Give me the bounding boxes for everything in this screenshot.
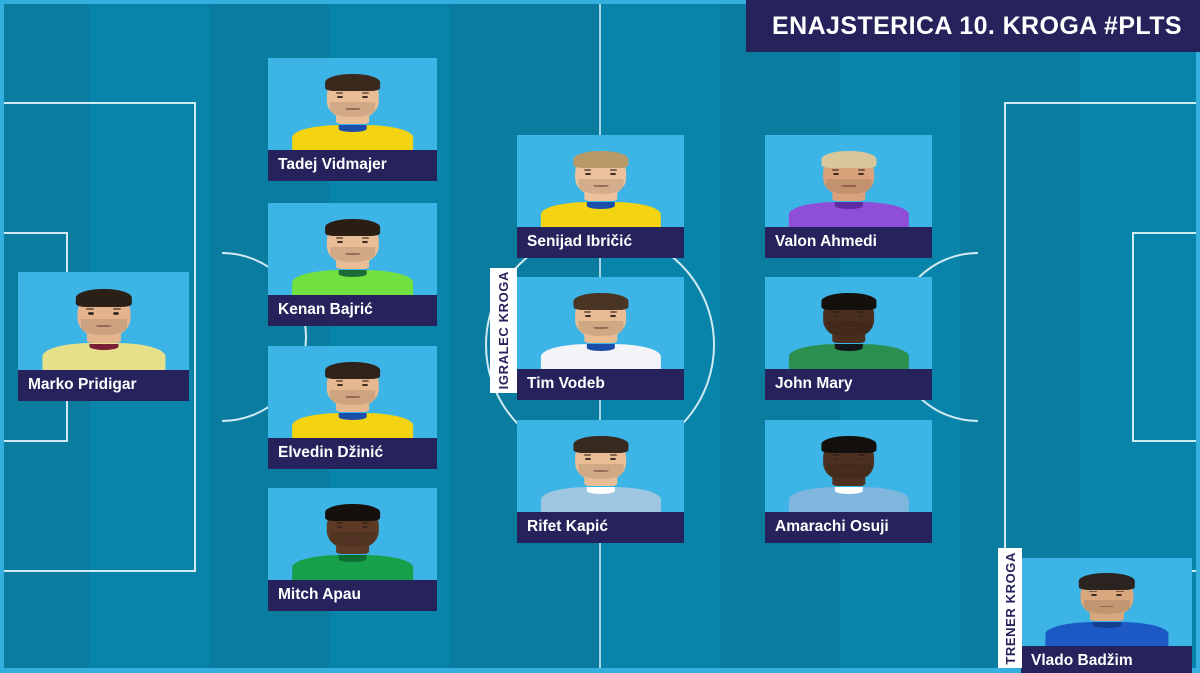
player-portrait [18, 272, 189, 370]
portrait-brow-r-shape [858, 311, 866, 313]
portrait-eye-l-shape [337, 526, 342, 528]
portrait-hair-shape [821, 436, 876, 453]
goal-box-right [1132, 232, 1200, 442]
player-photo [517, 420, 684, 512]
player-card-defender-3[interactable]: Elvedin Džinić [268, 346, 437, 469]
portrait-brow-l-shape [336, 92, 344, 94]
coach-portrait [1021, 558, 1192, 646]
player-photo [18, 272, 189, 370]
portrait-brow-r-shape [610, 454, 618, 456]
portrait-brow-r-shape [858, 454, 866, 456]
player-card-forward-2[interactable]: John Mary [765, 277, 932, 400]
portrait-beard-shape [1083, 600, 1129, 614]
player-name-label: John Mary [765, 369, 932, 400]
player-name-label: Marko Pridigar [18, 370, 189, 401]
portrait-brow-l-shape [832, 454, 840, 456]
portrait-brow-l-shape [336, 522, 344, 524]
portrait-mouth-shape [593, 470, 608, 472]
portrait-hair-shape [325, 504, 381, 521]
portrait-brow-r-shape [362, 92, 370, 94]
portrait-hair-shape [325, 74, 381, 91]
portrait-brow-l-shape [86, 308, 94, 310]
player-photo [517, 277, 684, 369]
portrait-brow-l-shape [832, 169, 840, 171]
player-portrait [268, 488, 437, 580]
portrait-eye-r-shape [858, 315, 863, 317]
coach-photo [1021, 558, 1192, 646]
portrait-mouth-shape [841, 327, 856, 329]
player-portrait [517, 420, 684, 512]
player-name-label: Tim Vodeb [517, 369, 684, 400]
portrait-eye-r-shape [362, 96, 367, 98]
portrait-eye-r-shape [610, 173, 615, 175]
player-portrait [268, 203, 437, 295]
portrait-eye-r-shape [610, 458, 615, 460]
player-portrait [268, 346, 437, 438]
portrait-brow-r-shape [362, 380, 370, 382]
portrait-mouth-shape [345, 108, 360, 110]
portrait-eye-l-shape [337, 241, 342, 243]
portrait-brow-r-shape [858, 169, 866, 171]
portrait-brow-r-shape [362, 237, 370, 239]
player-card-defender-2[interactable]: Kenan Bajrić [268, 203, 437, 326]
frame-bottom-edge [0, 668, 1200, 673]
portrait-brow-r-shape [113, 308, 121, 310]
player-card-midfielder-3[interactable]: Rifet Kapić [517, 420, 684, 543]
portrait-mouth-shape [345, 538, 360, 540]
player-photo [268, 203, 437, 295]
portrait-hair-shape [821, 293, 876, 310]
portrait-eye-l-shape [585, 173, 590, 175]
page-title: ENAJSTERICA 10. KROGA #PLTS [772, 12, 1182, 41]
portrait-mouth-shape [593, 327, 608, 329]
coach-name-label: Vlado Badžim [1021, 646, 1192, 673]
portrait-eye-l-shape [337, 384, 342, 386]
portrait-eye-r-shape [858, 458, 863, 460]
portrait-beard-shape [578, 179, 623, 194]
player-portrait [765, 420, 932, 512]
portrait-hair-shape [325, 219, 381, 236]
portrait-brow-r-shape [610, 169, 618, 171]
portrait-eye-l-shape [833, 458, 838, 460]
portrait-collar-shape [89, 344, 118, 351]
header-banner: ENAJSTERICA 10. KROGA #PLTS [746, 0, 1200, 52]
player-name-label: Elvedin Džinić [268, 438, 437, 469]
player-name-label: Amarachi Osuji [765, 512, 932, 543]
portrait-beard-shape [330, 247, 376, 262]
portrait-brow-r-shape [362, 522, 370, 524]
player-portrait [517, 277, 684, 369]
portrait-brow-l-shape [584, 169, 592, 171]
portrait-beard-shape [826, 179, 871, 194]
portrait-eye-l-shape [585, 315, 590, 317]
player-portrait [765, 277, 932, 369]
portrait-hair-shape [573, 293, 628, 310]
player-name-label: Tadej Vidmajer [268, 150, 437, 181]
portrait-mouth-shape [841, 185, 856, 187]
portrait-brow-l-shape [336, 237, 344, 239]
portrait-eye-l-shape [88, 312, 93, 315]
player-photo [268, 488, 437, 580]
portrait-eye-r-shape [362, 241, 367, 243]
portrait-beard-shape [578, 321, 623, 336]
portrait-beard-shape [330, 102, 376, 117]
portrait-beard-shape [80, 319, 126, 335]
portrait-mouth-shape [841, 470, 856, 472]
frame-left-edge [0, 0, 4, 673]
player-name-label: Rifet Kapić [517, 512, 684, 543]
coach-of-round-badge: TRENER KROGA [998, 548, 1022, 668]
player-card-forward-3[interactable]: Amarachi Osuji [765, 420, 932, 543]
coach-card[interactable]: Vlado Badžim [1021, 558, 1192, 673]
portrait-beard-shape [578, 464, 623, 479]
portrait-eye-r-shape [362, 384, 367, 386]
portrait-hair-shape [821, 151, 876, 168]
portrait-eye-r-shape [610, 315, 615, 317]
player-photo [765, 420, 932, 512]
player-of-round-badge: IGRALEC KROGA [490, 268, 517, 393]
player-name-label: Senijad Ibričić [517, 227, 684, 258]
coach-of-round-label: TRENER KROGA [1003, 552, 1018, 665]
player-photo [765, 277, 932, 369]
portrait-eye-l-shape [833, 315, 838, 317]
player-of-round-label: IGRALEC KROGA [496, 271, 511, 389]
portrait-beard-shape [826, 464, 871, 479]
player-name-label: Valon Ahmedi [765, 227, 932, 258]
portrait-brow-l-shape [336, 380, 344, 382]
player-portrait [268, 58, 437, 150]
player-portrait [517, 135, 684, 227]
portrait-hair-shape [573, 436, 628, 453]
portrait-mouth-shape [96, 325, 111, 327]
player-card-goalkeeper[interactable]: Marko Pridigar [18, 272, 189, 401]
portrait-eye-r-shape [113, 312, 118, 315]
portrait-eye-r-shape [858, 173, 863, 175]
portrait-beard-shape [330, 390, 376, 405]
portrait-mouth-shape [593, 185, 608, 187]
portrait-mouth-shape [1099, 606, 1114, 608]
portrait-mouth-shape [345, 396, 360, 398]
portrait-hair-shape [1078, 573, 1134, 590]
portrait-beard-shape [826, 321, 871, 336]
portrait-eye-l-shape [833, 173, 838, 175]
player-card-forward-1[interactable]: Valon Ahmedi [765, 135, 932, 258]
portrait-beard-shape [330, 532, 376, 547]
player-card-midfielder-1[interactable]: Senijad Ibričić [517, 135, 684, 258]
portrait-eye-l-shape [585, 458, 590, 460]
portrait-hair-shape [325, 362, 381, 379]
player-photo [268, 346, 437, 438]
player-name-label: Kenan Bajrić [268, 295, 437, 326]
player-photo [765, 135, 932, 227]
portrait-hair-shape [573, 151, 628, 168]
lineup-graphic: ENAJSTERICA 10. KROGA #PLTS Marko Pridig… [0, 0, 1200, 673]
player-photo [268, 58, 437, 150]
portrait-brow-l-shape [584, 311, 592, 313]
player-name-label: Mitch Apau [268, 580, 437, 611]
player-card-defender-4[interactable]: Mitch Apau [268, 488, 437, 611]
player-photo [517, 135, 684, 227]
portrait-brow-l-shape [832, 311, 840, 313]
frame-right-edge [1196, 0, 1200, 673]
portrait-brow-l-shape [584, 454, 592, 456]
portrait-eye-l-shape [337, 96, 342, 98]
portrait-hair-shape [75, 289, 131, 308]
player-portrait [765, 135, 932, 227]
portrait-eye-r-shape [362, 526, 367, 528]
player-card-defender-1[interactable]: Tadej Vidmajer [268, 58, 437, 181]
portrait-brow-r-shape [610, 311, 618, 313]
player-card-midfielder-2[interactable]: Tim Vodeb [517, 277, 684, 400]
portrait-mouth-shape [345, 253, 360, 255]
